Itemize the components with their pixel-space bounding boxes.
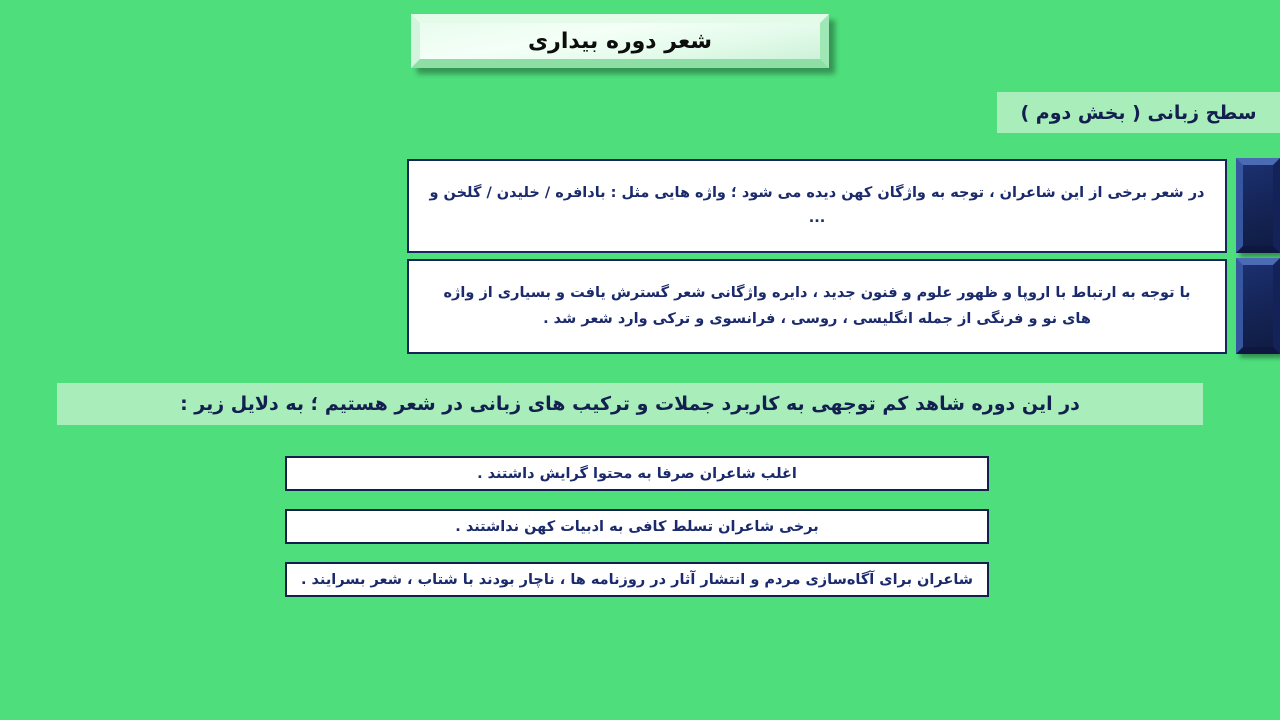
content-box-foreign-words: با توجه به ارتباط با اروپا و ظهور علوم و…	[407, 259, 1227, 354]
reason-box-1: اغلب شاعران صرفا به محتوا گرایش داشتند .	[285, 456, 989, 491]
reason-text: برخی شاعران تسلط کافی به ادبیات کهن نداش…	[455, 519, 818, 535]
content-box-archaic-words: در شعر برخی از این شاعران ، توجه به واژگ…	[407, 159, 1227, 253]
content-box-text: با توجه به ارتباط با اروپا و ظهور علوم و…	[427, 281, 1207, 332]
subtitle-label: سطح زبانی ( بخش دوم )	[1020, 102, 1256, 124]
reason-text: اغلب شاعران صرفا به محتوا گرایش داشتند .	[477, 466, 797, 482]
reason-box-2: برخی شاعران تسلط کافی به ادبیات کهن نداش…	[285, 509, 989, 544]
navy-beveled-button-2[interactable]	[1236, 258, 1280, 354]
page-title: شعر دوره بیداری	[528, 29, 712, 54]
navy-beveled-button-1[interactable]	[1236, 158, 1280, 253]
reason-box-3: شاعران برای آگاه‌سازی مردم و انتشار آثار…	[285, 562, 989, 597]
highlight-reasons-bar: در این دوره شاهد کم توجهی به کاربرد جملا…	[57, 383, 1203, 425]
highlight-label: در این دوره شاهد کم توجهی به کاربرد جملا…	[180, 393, 1080, 415]
slide-subtitle-bar: سطح زبانی ( بخش دوم )	[997, 92, 1280, 133]
reason-text: شاعران برای آگاه‌سازی مردم و انتشار آثار…	[301, 572, 973, 588]
slide-title-banner: شعر دوره بیداری	[411, 14, 829, 68]
content-box-text: در شعر برخی از این شاعران ، توجه به واژگ…	[427, 181, 1207, 232]
